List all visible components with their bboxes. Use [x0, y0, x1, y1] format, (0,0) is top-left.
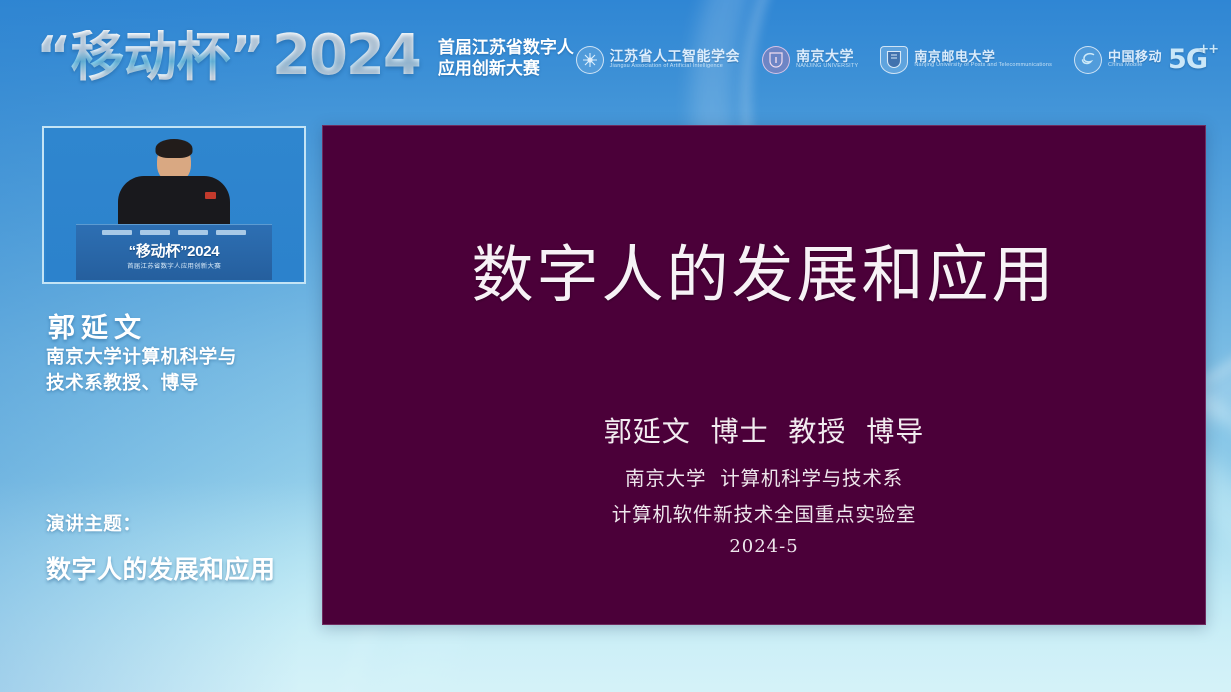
nju-logo-text: 南京大学 NANJING UNIVERSITY	[796, 49, 858, 69]
podium-sponsor-logo	[102, 230, 132, 235]
slide-date: 2024-5	[323, 536, 1205, 557]
presenter-hair	[156, 139, 193, 158]
speaker-name: 郭延文	[48, 306, 147, 345]
broadcast-header: “移动杯” 2024 首届江苏省数字人 应用创新大赛 江苏省人工智能学会 Jia…	[0, 0, 1231, 112]
event-wordmark: “移动杯”	[36, 30, 264, 84]
podium-event-title: “移动杯”2024	[76, 240, 272, 261]
china-mobile-logo-text: 中国移动 China Mobile	[1108, 50, 1162, 69]
speaker-title-line1: 南京大学计算机科学与	[46, 344, 302, 370]
china-mobile-icon	[1074, 46, 1102, 74]
partner-logo-strip: 江苏省人工智能学会 Jiangsu Association of Artific…	[576, 44, 1207, 75]
jsai-logo-text: 江苏省人工智能学会 Jiangsu Association of Artific…	[610, 49, 741, 69]
njupt-logo-text: 南京邮电大学 Nanjing University of Posts and T…	[914, 50, 1052, 69]
partner-logo-njupt: 南京邮电大学 Nanjing University of Posts and T…	[880, 46, 1052, 74]
podium-event-subtitle: 首届江苏省数字人应用创新大赛	[76, 260, 272, 269]
nju-logo-en: NANJING UNIVERSITY	[796, 64, 858, 69]
podium-sponsor-logo	[140, 230, 170, 235]
event-subtitle: 首届江苏省数字人 应用创新大赛	[438, 37, 574, 81]
presentation-slide[interactable]: 数字人的发展和应用 郭延文 博士 教授 博导 南京大学 计算机科学与技术系 计算…	[322, 125, 1206, 625]
presenter-shirt-logo	[205, 192, 216, 199]
event-year: 2024	[272, 28, 420, 84]
njupt-logo-en: Nanjing University of Posts and Telecomm…	[914, 64, 1052, 69]
partner-logo-jsai: 江苏省人工智能学会 Jiangsu Association of Artific…	[576, 46, 741, 74]
china-mobile-logo-en: China Mobile	[1108, 64, 1162, 69]
jsai-emblem-icon	[576, 46, 604, 74]
speaker-title: 南京大学计算机科学与 技术系教授、博导	[46, 344, 302, 397]
5g-badge-sup: ++	[1198, 42, 1218, 57]
jsai-logo-en: Jiangsu Association of Artificial Intell…	[610, 64, 741, 69]
podium-sponsor-logos	[76, 230, 272, 235]
podium-sponsor-logo	[216, 230, 246, 235]
5g-badge: 5G++	[1168, 44, 1207, 75]
presenter-video-frame: “移动杯”2024 首届江苏省数字人应用创新大赛	[46, 130, 302, 280]
presenter-video-thumbnail[interactable]: “移动杯”2024 首届江苏省数字人应用创新大赛	[42, 126, 306, 284]
topic-label: 演讲主题：	[46, 510, 142, 536]
nju-crest-icon	[762, 46, 790, 74]
partner-logo-china-mobile: 中国移动 China Mobile 5G++	[1074, 44, 1207, 75]
presenter-podium: “移动杯”2024 首届江苏省数字人应用创新大赛	[76, 224, 272, 280]
event-subtitle-line2: 应用创新大赛	[438, 58, 574, 80]
slide-affiliation-1: 南京大学 计算机科学与技术系	[323, 462, 1205, 491]
partner-logo-nju: 南京大学 NANJING UNIVERSITY	[762, 46, 858, 74]
nju-logo-cn: 南京大学	[796, 49, 858, 64]
slide-title: 数字人的发展和应用	[323, 224, 1205, 314]
event-subtitle-line1: 首届江苏省数字人	[438, 37, 574, 59]
event-logo: “移动杯” 2024 首届江苏省数字人 应用创新大赛	[36, 28, 574, 84]
topic-value: 数字人的发展和应用	[46, 550, 276, 586]
slide-byline: 郭延文 博士 教授 博导	[323, 410, 1205, 450]
jsai-logo-cn: 江苏省人工智能学会	[610, 49, 741, 64]
slide-affiliation-2: 计算机软件新技术全国重点实验室	[323, 498, 1205, 527]
speaker-title-line2: 技术系教授、博导	[46, 370, 302, 396]
speaker-sidebar: “移动杯”2024 首届江苏省数字人应用创新大赛 郭延文 南京大学计算机科学与 …	[0, 118, 320, 678]
njupt-shield-icon	[880, 46, 908, 74]
podium-sponsor-logo	[178, 230, 208, 235]
